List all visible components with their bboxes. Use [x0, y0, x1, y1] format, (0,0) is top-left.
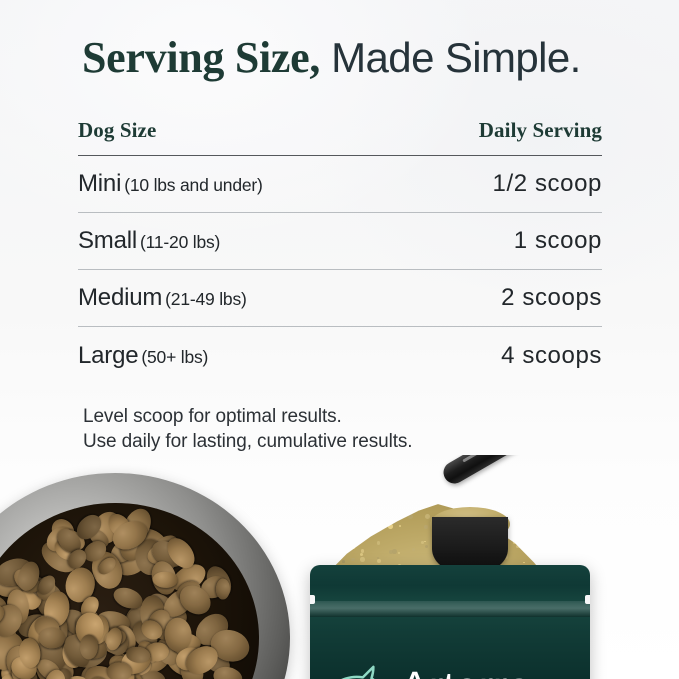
powder-grain	[355, 516, 360, 521]
powder-grain	[528, 514, 531, 517]
table-row: Large(50+ lbs) 4 scoops	[78, 327, 602, 384]
powder-grain	[425, 514, 430, 519]
dog-food-bowl	[0, 473, 290, 679]
dog-size-name: Medium	[78, 284, 162, 311]
powder-grain	[376, 523, 380, 527]
powder-grain	[552, 537, 554, 539]
powder-grain	[547, 556, 549, 558]
daily-serving-cell: 1/2 scoop	[493, 170, 602, 198]
serving-size-table: Dog Size Daily Serving Mini(10 lbs and u…	[78, 118, 602, 384]
powder-grain	[361, 528, 365, 532]
powder-grain	[536, 553, 540, 557]
powder-grain	[354, 512, 359, 517]
powder-grain	[371, 511, 376, 516]
serving-size-infographic: Serving Size, Made Simple. Dog Size Dail…	[0, 0, 679, 679]
usage-note-line-1: Level scoop for optimal results.	[83, 404, 413, 429]
daily-serving-cell: 4 scoops	[501, 342, 602, 370]
powder-grain	[360, 553, 363, 556]
powder-grain	[424, 541, 426, 543]
page-title-subtext: Made Simple.	[320, 34, 581, 81]
product-bag: Arterra	[310, 565, 590, 679]
powder-grain	[523, 562, 525, 564]
powder-grain	[533, 534, 535, 536]
powder-grain	[392, 549, 397, 554]
brand-name: Arterra	[400, 667, 531, 679]
powder-grain	[541, 529, 543, 531]
powder-grain	[330, 537, 335, 542]
powder-grain	[534, 544, 537, 547]
daily-serving-cell: 1 scoop	[514, 227, 602, 255]
column-header-dog-size: Dog Size	[78, 118, 156, 143]
kibble-piece	[216, 579, 230, 600]
dog-size-cell: Medium(21-49 lbs)	[78, 284, 247, 312]
powder-grain	[374, 513, 378, 517]
kibble-piece	[106, 663, 132, 679]
powder-grain	[515, 526, 518, 529]
daily-serving-cell: 2 scoops	[501, 284, 602, 312]
powder-grain	[554, 544, 557, 547]
dog-size-detail: (21-49 lbs)	[165, 289, 246, 309]
dog-logo-icon	[328, 663, 390, 679]
powder-grain	[421, 541, 423, 543]
powder-grain	[424, 525, 428, 529]
table-header-row: Dog Size Daily Serving	[78, 118, 602, 156]
powder-grain	[515, 536, 517, 538]
powder-grain	[399, 525, 401, 527]
dog-size-name: Small	[78, 227, 137, 254]
usage-notes: Level scoop for optimal results. Use dai…	[83, 404, 413, 454]
dog-size-detail: (50+ lbs)	[141, 347, 208, 367]
table-row: Mini(10 lbs and under) 1/2 scoop	[78, 156, 602, 213]
bowl-interior	[0, 503, 259, 679]
page-title-emphasis: Serving Size,	[82, 33, 320, 82]
powder-grain	[318, 553, 322, 557]
powder-grain	[324, 540, 328, 544]
powder-grain	[542, 544, 546, 548]
dog-size-name: Large	[78, 342, 138, 369]
powder-grain	[425, 545, 428, 548]
powder-grain	[357, 526, 360, 529]
page-title: Serving Size, Made Simple.	[82, 32, 581, 83]
powder-grain	[351, 558, 354, 561]
dog-size-name: Mini	[78, 170, 121, 197]
powder-grain	[552, 544, 557, 549]
powder-grain	[377, 559, 381, 563]
powder-grain	[522, 521, 527, 526]
powder-grain	[534, 544, 537, 547]
table-row: Small(11-20 lbs) 1 scoop	[78, 213, 602, 270]
powder-grain	[368, 524, 372, 528]
powder-grain	[388, 524, 393, 529]
powder-grain	[352, 545, 356, 549]
powder-grain	[360, 557, 365, 562]
powder-grain	[342, 560, 345, 563]
dog-size-cell: Large(50+ lbs)	[78, 342, 208, 370]
dog-size-cell: Mini(10 lbs and under)	[78, 170, 263, 198]
bag-seal-seam	[310, 601, 590, 617]
brand-lockup: Arterra	[328, 663, 531, 679]
powder-grain	[361, 549, 364, 552]
powder-grain	[335, 513, 339, 517]
powder-grain	[337, 543, 340, 546]
powder-grain	[552, 524, 554, 526]
powder-grain	[365, 530, 370, 535]
powder-grain	[412, 548, 415, 551]
powder-grain	[513, 541, 517, 545]
column-header-daily-serving: Daily Serving	[479, 118, 602, 143]
powder-grain	[516, 539, 518, 541]
powder-grain	[516, 545, 519, 548]
powder-grain	[540, 512, 542, 514]
powder-grain	[377, 541, 381, 545]
dog-size-cell: Small(11-20 lbs)	[78, 227, 220, 255]
powder-grain	[340, 525, 342, 527]
powder-grain	[398, 552, 400, 554]
bag-tear-notch-right	[585, 595, 590, 604]
product-photo: Arterra	[0, 455, 679, 679]
table-row: Medium(21-49 lbs) 2 scoops	[78, 270, 602, 327]
powder-grain	[339, 531, 341, 533]
usage-note-line-2: Use daily for lasting, cumulative result…	[83, 429, 413, 454]
powder-grain	[321, 541, 323, 543]
bag-tear-notch-left	[310, 595, 315, 604]
powder-grain	[358, 515, 360, 517]
dog-size-detail: (11-20 lbs)	[140, 232, 220, 252]
powder-grain	[523, 539, 525, 541]
dog-size-detail: (10 lbs and under)	[124, 175, 262, 195]
